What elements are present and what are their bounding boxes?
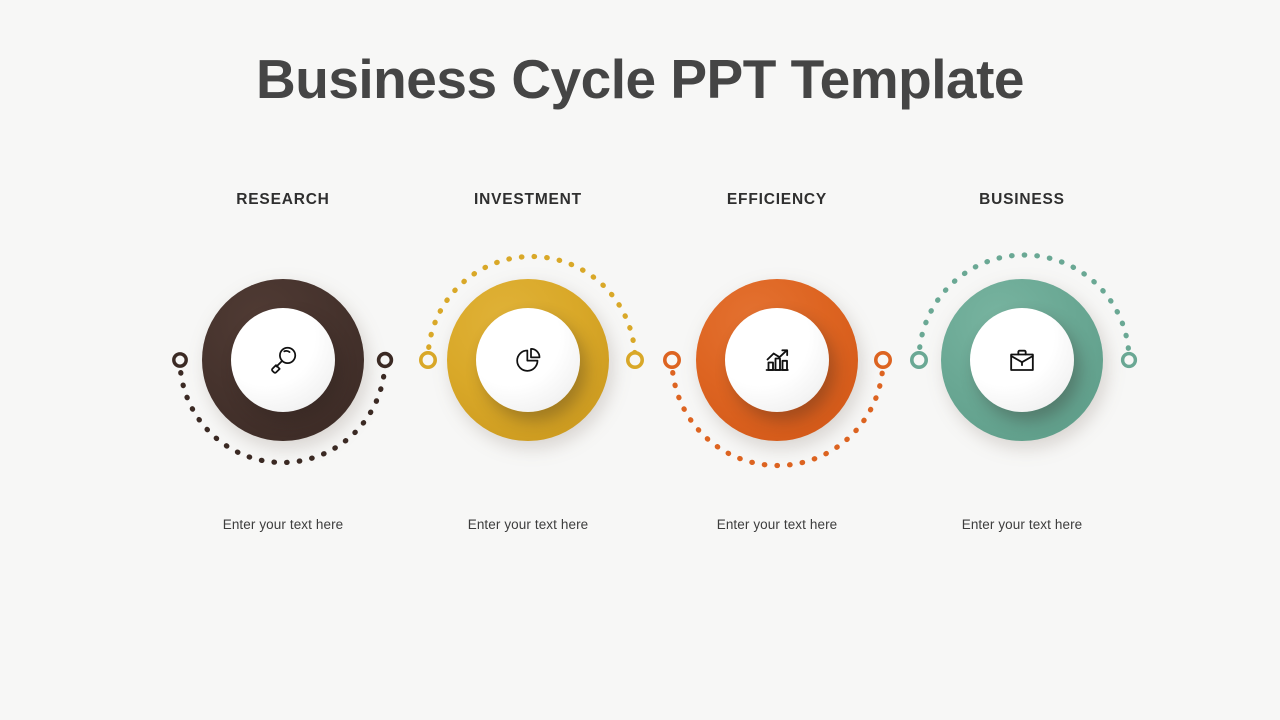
step-research[interactable]: RESEARCH Enter your text here: [158, 0, 408, 720]
step-caption-investment: Enter your text here: [403, 517, 653, 532]
step-label-efficiency: EFFICIENCY: [652, 191, 902, 209]
icon-disc-efficiency: [725, 308, 829, 412]
slide-canvas: Business Cycle PPT Template: [0, 0, 1280, 720]
growth-bar-chart-icon: [757, 340, 797, 380]
step-label-business: BUSINESS: [897, 191, 1147, 209]
step-circle-research[interactable]: [202, 279, 364, 441]
step-caption-business: Enter your text here: [897, 517, 1147, 532]
step-label-investment: INVESTMENT: [403, 191, 653, 209]
icon-disc-business: [970, 308, 1074, 412]
step-business[interactable]: BUSINESS Enter your text here: [897, 0, 1147, 720]
magnifier-icon: [263, 340, 303, 380]
step-caption-research: Enter your text here: [158, 517, 408, 532]
step-investment[interactable]: INVESTMENT Enter your text here: [403, 0, 653, 720]
step-caption-efficiency: Enter your text here: [652, 517, 902, 532]
step-label-research: RESEARCH: [158, 191, 408, 209]
icon-disc-investment: [476, 308, 580, 412]
step-efficiency[interactable]: EFFICIENCY Enter your text here: [652, 0, 902, 720]
step-circle-investment[interactable]: [447, 279, 609, 441]
briefcase-icon: [1002, 340, 1042, 380]
step-circle-efficiency[interactable]: [696, 279, 858, 441]
pie-chart-icon: [508, 340, 548, 380]
step-circle-business[interactable]: [941, 279, 1103, 441]
icon-disc-research: [231, 308, 335, 412]
